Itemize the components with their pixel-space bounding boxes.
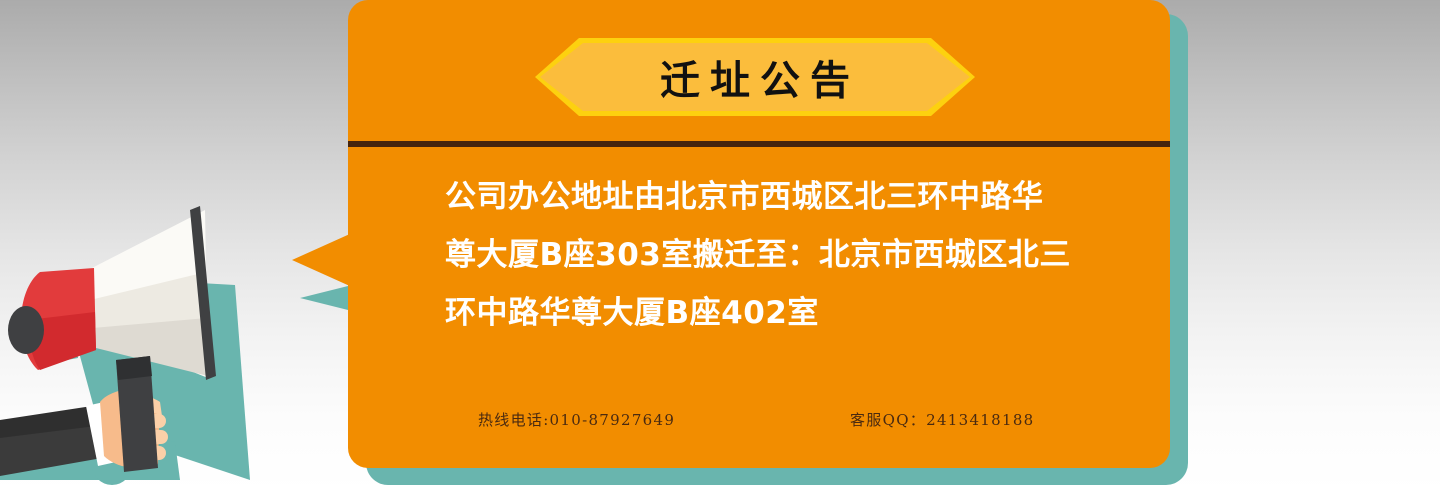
megaphone-back-cap (8, 306, 44, 354)
announcement-banner-stage: 迁址公告 公司办公地址由北京市西城区北三环中路华 尊大厦B座303室搬迁至：北京… (0, 0, 1440, 492)
title-banner: 迁址公告 (535, 38, 975, 116)
card-tail (292, 233, 352, 287)
hotline-phone: 热线电话:010-87927649 (478, 409, 675, 430)
announcement-body: 公司办公地址由北京市西城区北三环中路华 尊大厦B座303室搬迁至：北京市西城区北… (445, 168, 1095, 342)
contact-footer: 热线电话:010-87927649 客服QQ：2413418188 (478, 409, 1078, 433)
announcement-line-3: 环中路华尊大厦B座402室 (445, 284, 1095, 342)
customer-service-qq: 客服QQ：2413418188 (850, 409, 1035, 430)
announcement-line-1: 公司办公地址由北京市西城区北三环中路华 (445, 168, 1095, 226)
megaphone-illustration (0, 180, 300, 492)
header-divider (348, 141, 1170, 147)
page-title: 迁址公告 (535, 38, 975, 116)
announcement-line-2: 尊大厦B座303室搬迁至：北京市西城区北三 (445, 226, 1095, 284)
